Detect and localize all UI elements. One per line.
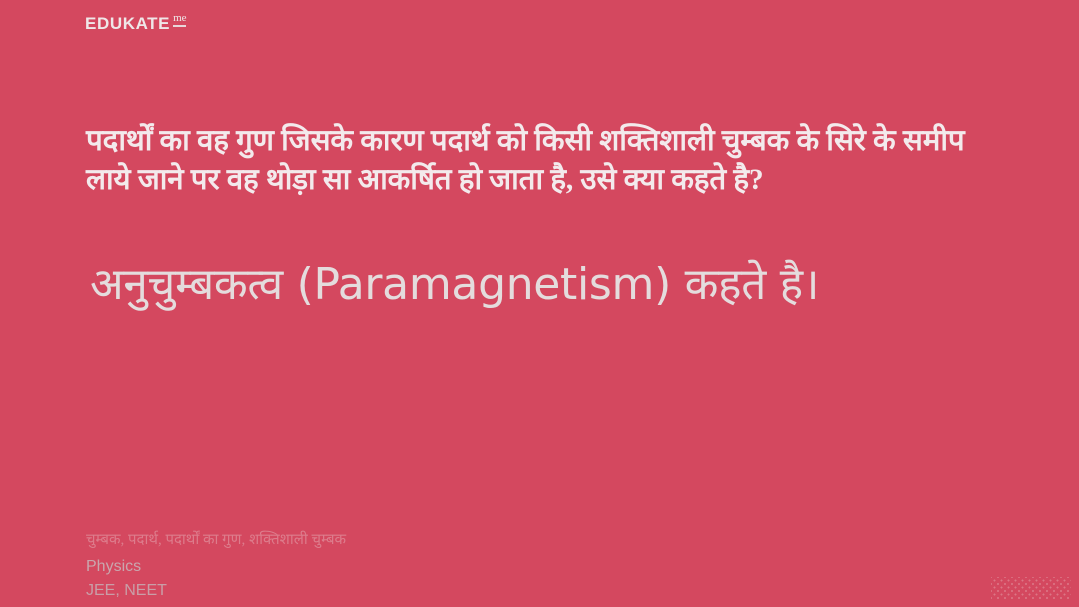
brand-logo-underline (173, 25, 186, 27)
question-text: पदार्थों का वह गुण जिसके कारण पदार्थ को … (86, 122, 986, 200)
footer-tags: चुम्बक, पदार्थ, पदार्थों का गुण, शक्तिशा… (86, 528, 686, 552)
brand-logo-wordmark: EDUKATE (85, 15, 170, 32)
slide-canvas: EDUKATE me पदार्थों का वह गुण जिसके कारण… (0, 0, 1079, 607)
footer: चुम्बक, पदार्थ, पदार्थों का गुण, शक्तिशा… (86, 528, 686, 607)
brand-logo[interactable]: EDUKATE me (85, 15, 187, 32)
footer-subject: Physics (86, 555, 686, 579)
footer-exams: JEE, NEET (86, 579, 686, 607)
brand-logo-suffix: me (173, 13, 186, 24)
brand-logo-suffix-wrap: me (173, 13, 186, 27)
corner-watermark-icon (991, 577, 1071, 599)
answer-text: अनुचुम्बकत्व (Paramagnetism) कहते है। (90, 252, 970, 318)
